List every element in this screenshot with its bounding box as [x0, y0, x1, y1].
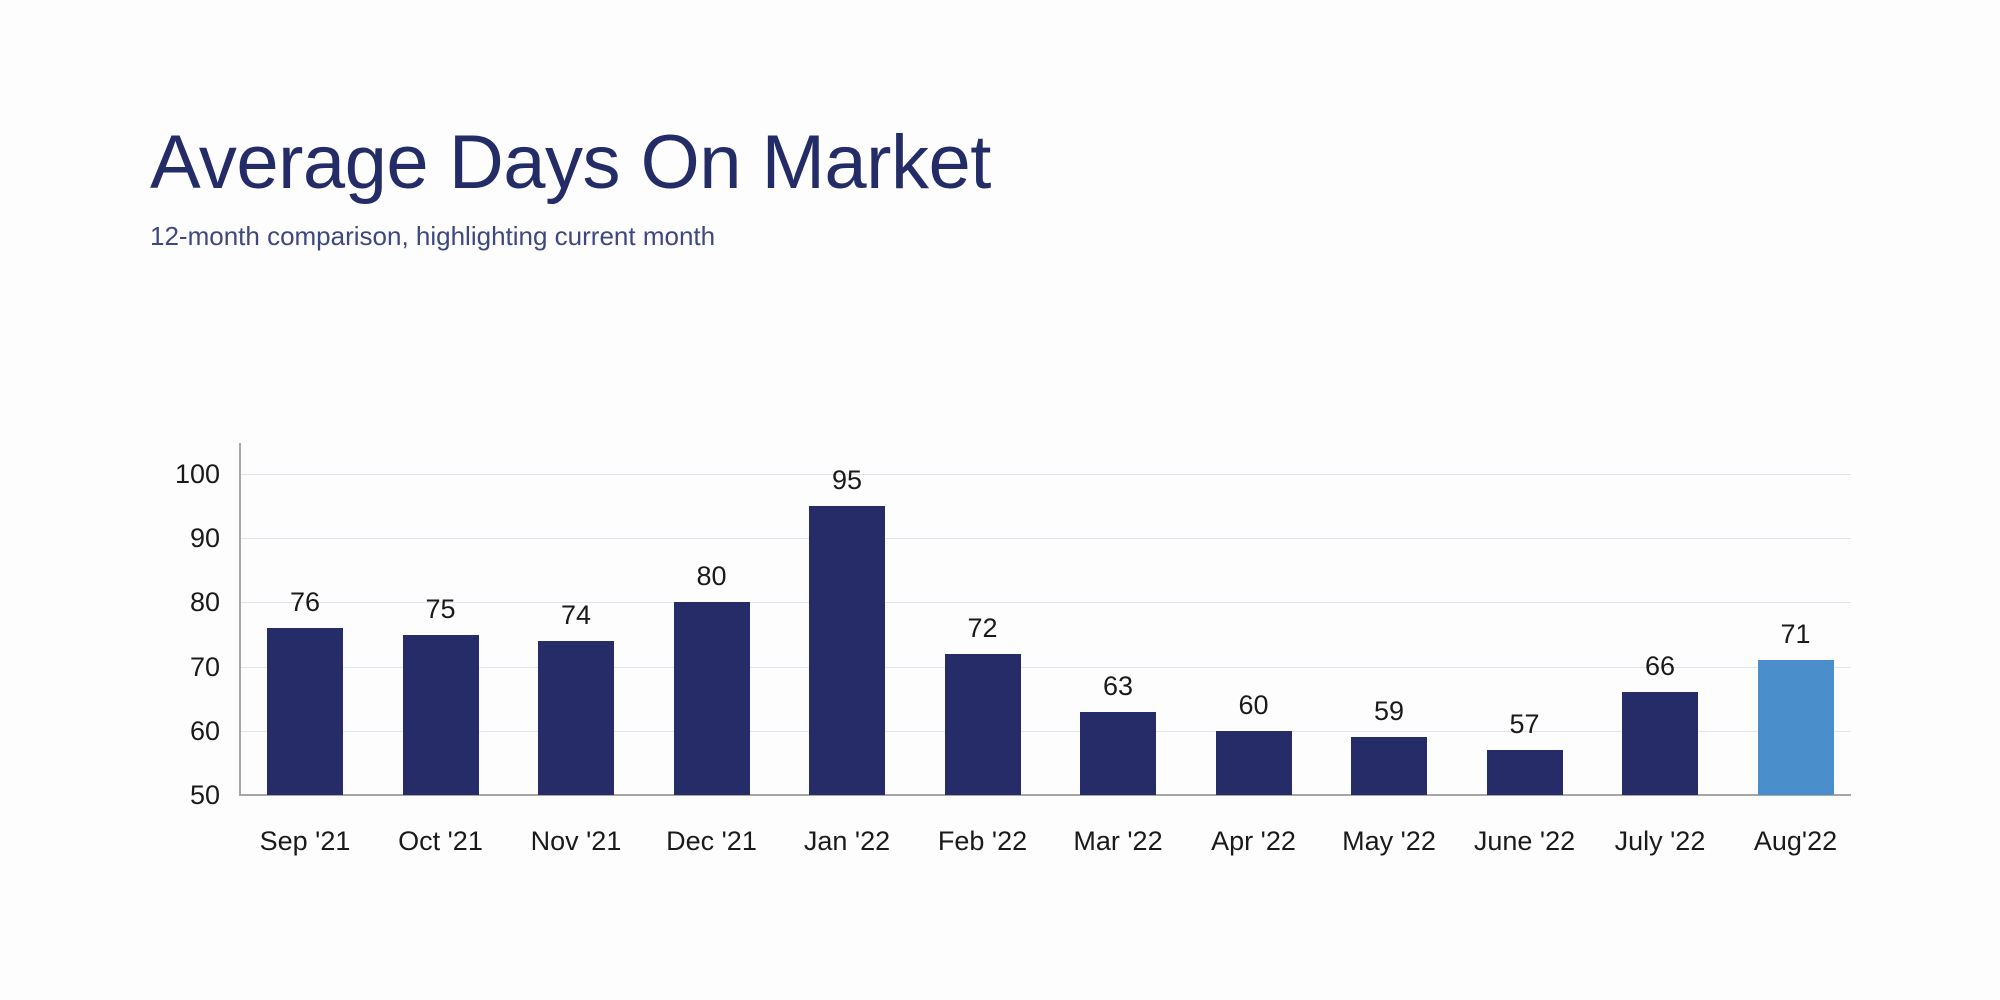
bar-group[interactable]: 72Feb '22 [945, 0, 1021, 1000]
x-axis-tick-label: Jan '22 [777, 826, 917, 856]
bar-value-label: 75 [373, 595, 509, 623]
bar[interactable] [809, 506, 885, 795]
bar-group[interactable]: 75Oct '21 [403, 0, 479, 1000]
x-axis-tick-label: Feb '22 [913, 826, 1053, 856]
bar-group[interactable]: 95Jan '22 [809, 0, 885, 1000]
x-axis-tick-label: May '22 [1319, 826, 1459, 856]
bar-group[interactable]: 71Aug'22 [1758, 0, 1834, 1000]
bar-group[interactable]: 63Mar '22 [1080, 0, 1156, 1000]
bar[interactable] [267, 628, 343, 795]
bar[interactable] [1216, 731, 1292, 795]
y-axis-tick-label: 50 [130, 782, 220, 809]
bar-value-label: 66 [1592, 652, 1728, 680]
bar-highlighted[interactable] [1758, 660, 1834, 795]
x-axis-tick-label: Mar '22 [1048, 826, 1188, 856]
y-axis-line [239, 443, 241, 796]
bar-group[interactable]: 60Apr '22 [1216, 0, 1292, 1000]
bar-value-label: 80 [644, 562, 780, 590]
bar-group[interactable]: 80Dec '21 [674, 0, 750, 1000]
y-axis-tick-label: 70 [130, 654, 220, 681]
x-axis-tick-label: Apr '22 [1184, 826, 1324, 856]
bar-value-label: 63 [1050, 672, 1186, 700]
bar-value-label: 95 [779, 466, 915, 494]
bar-value-label: 59 [1321, 697, 1457, 725]
x-axis-tick-label: Sep '21 [235, 826, 375, 856]
bar-group[interactable]: 76Sep '21 [267, 0, 343, 1000]
y-axis-tick-label: 90 [130, 525, 220, 552]
x-axis-tick-label: June '22 [1455, 826, 1595, 856]
gridline [241, 538, 1851, 539]
bar[interactable] [945, 654, 1021, 795]
bar-value-label: 76 [237, 588, 373, 616]
bar-group[interactable]: 74Nov '21 [538, 0, 614, 1000]
x-axis-tick-label: July '22 [1590, 826, 1730, 856]
y-axis-tick-label: 80 [130, 589, 220, 616]
bar-group[interactable]: 66July '22 [1622, 0, 1698, 1000]
x-axis-tick-label: Dec '21 [642, 826, 782, 856]
bar[interactable] [1080, 712, 1156, 795]
bar-chart: 5060708090100 76Sep '2175Oct '2174Nov '2… [0, 0, 2000, 1000]
bar[interactable] [1487, 750, 1563, 795]
bar-value-label: 72 [915, 614, 1051, 642]
y-axis-tick-label: 100 [130, 461, 220, 488]
bar[interactable] [1351, 737, 1427, 795]
x-axis-baseline [239, 794, 1851, 796]
bar-value-label: 60 [1186, 691, 1322, 719]
bar-group[interactable]: 59May '22 [1351, 0, 1427, 1000]
bar[interactable] [674, 602, 750, 795]
gridline [241, 474, 1851, 475]
y-axis-tick-label: 60 [130, 718, 220, 745]
gridline [241, 731, 1851, 732]
bar-value-label: 57 [1457, 710, 1593, 738]
bar[interactable] [1622, 692, 1698, 795]
bar[interactable] [403, 635, 479, 796]
x-axis-tick-label: Nov '21 [506, 826, 646, 856]
x-axis-tick-label: Oct '21 [371, 826, 511, 856]
bar[interactable] [538, 641, 614, 795]
x-axis-tick-label: Aug'22 [1726, 826, 1866, 856]
y-axis-labels: 5060708090100 [130, 0, 220, 1000]
bar-value-label: 74 [508, 601, 644, 629]
bar-group[interactable]: 57June '22 [1487, 0, 1563, 1000]
bar-value-label: 71 [1728, 620, 1864, 648]
